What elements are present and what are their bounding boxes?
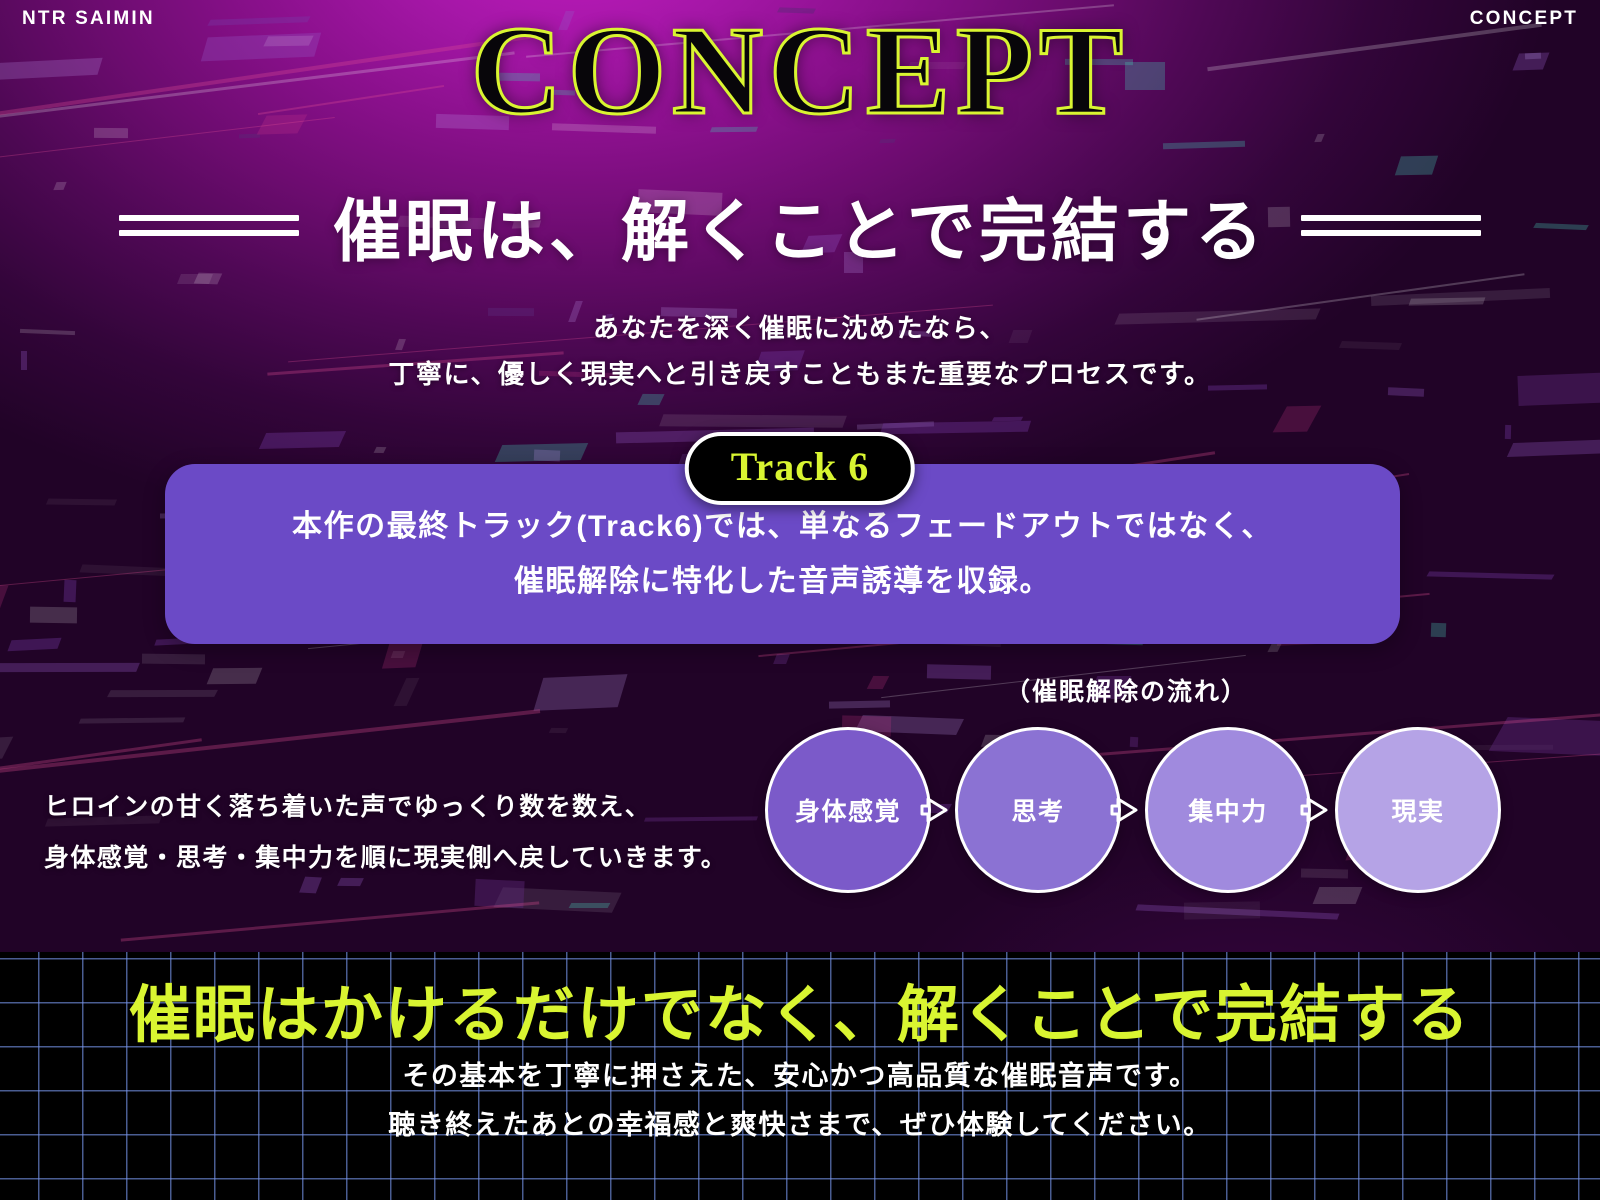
footer-paragraph: その基本を丁寧に押さえた、安心かつ高品質な催眠音声です。 聴き終えたあとの幸福感… bbox=[0, 1052, 1600, 1150]
flow-diagram: 身体感覚思考集中力現実 bbox=[765, 727, 1501, 893]
flow-node-1: 身体感覚 bbox=[765, 727, 931, 893]
lead-line-2: 丁寧に、優しく現実へと引き戻すこともまた重要なプロセスです。 bbox=[0, 351, 1600, 397]
flow-node-2: 思考 bbox=[955, 727, 1121, 893]
lead-paragraph: あなたを深く催眠に沈めたなら、 丁寧に、優しく現実へと引き戻すこともまた重要なプ… bbox=[0, 305, 1600, 398]
flow-note-line-2: 身体感覚・思考・集中力を順に現実側へ戻していきます。 bbox=[44, 833, 727, 884]
flow-node-4: 現実 bbox=[1335, 727, 1501, 893]
slide-root: NTR SAIMIN CONCEPT CONCEPT 催眠は、解くことで完結する… bbox=[0, 0, 1600, 1200]
flow-node-label: 身体感覚 bbox=[795, 792, 901, 828]
track-badge: Track 6 bbox=[685, 432, 915, 505]
footer-line-1: その基本を丁寧に押さえた、安心かつ高品質な催眠音声です。 bbox=[0, 1052, 1600, 1101]
headline-text: 催眠は、解くことで完結する bbox=[333, 176, 1267, 275]
flow-node-label: 現実 bbox=[1391, 792, 1444, 828]
footer-title: 催眠はかけるだけでなく、解くことで完結する bbox=[0, 964, 1600, 1054]
flow-arrow-icon bbox=[1110, 787, 1156, 833]
footer-band: 催眠はかけるだけでなく、解くことで完結する その基本を丁寧に押さえた、安心かつ高… bbox=[0, 952, 1600, 1200]
flow-note: ヒロインの甘く落ち着いた声でゆっくり数を数え、 身体感覚・思考・集中力を順に現実… bbox=[44, 782, 727, 885]
page-title: CONCEPT bbox=[0, 6, 1600, 138]
flow-node-3: 集中力 bbox=[1145, 727, 1311, 893]
flow-caption: （催眠解除の流れ） bbox=[1005, 672, 1248, 708]
track-panel-line-1: 本作の最終トラック(Track6)では、単なるフェードアウトではなく、 bbox=[292, 499, 1273, 555]
flow-node-label: 集中力 bbox=[1188, 792, 1268, 828]
track-panel-line-2: 催眠解除に特化した音声誘導を収録。 bbox=[514, 554, 1051, 610]
flow-note-line-1: ヒロインの甘く落ち着いた声でゆっくり数を数え、 bbox=[44, 782, 727, 833]
headline-row: 催眠は、解くことで完結する bbox=[0, 176, 1600, 275]
flow-arrow-icon bbox=[1300, 787, 1346, 833]
rule-right-icon bbox=[1301, 215, 1481, 236]
flow-arrow-icon bbox=[920, 787, 966, 833]
footer-line-2: 聴き終えたあとの幸福感と爽快さまで、ぜひ体験してください。 bbox=[0, 1101, 1600, 1150]
rule-left-icon bbox=[119, 215, 299, 236]
flow-node-label: 思考 bbox=[1011, 792, 1064, 828]
lead-line-1: あなたを深く催眠に沈めたなら、 bbox=[0, 305, 1600, 351]
